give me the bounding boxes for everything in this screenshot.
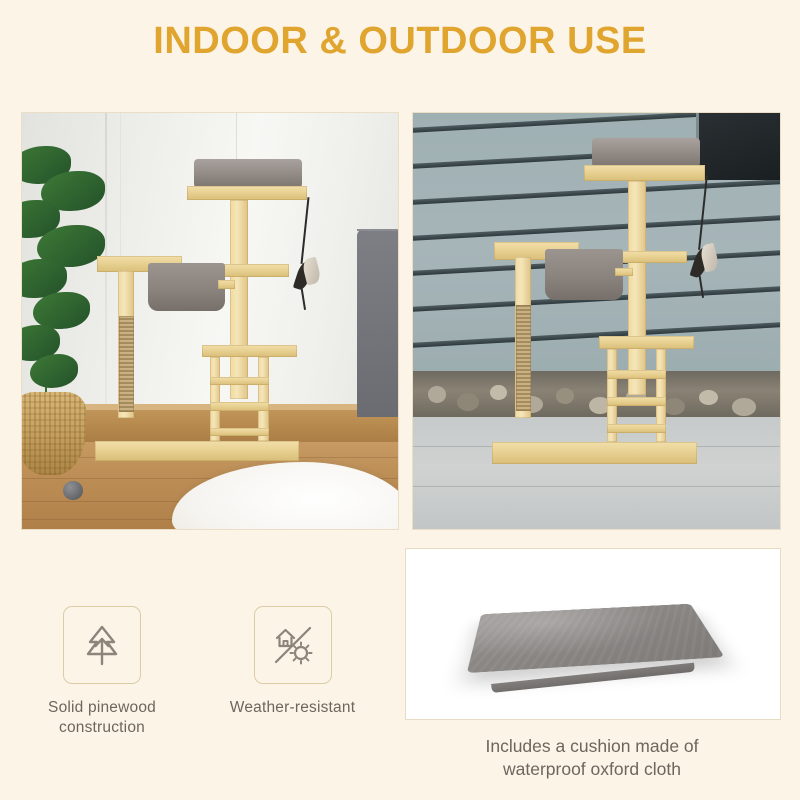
cushion-product-panel[interactable] xyxy=(405,548,781,720)
fabric-hammock xyxy=(545,249,622,300)
fabric-hammock xyxy=(148,263,225,311)
top-cushion xyxy=(592,138,700,167)
product-feature-page: INDOOR & OUTDOOR USE xyxy=(0,0,800,800)
feature-pinewood-label: Solid pinewood construction xyxy=(22,698,182,738)
outdoor-scene xyxy=(413,113,780,529)
indoor-photo[interactable] xyxy=(21,112,399,530)
toy-ball xyxy=(63,481,83,500)
outdoor-photo[interactable] xyxy=(412,112,781,530)
sisal-scratching-post xyxy=(119,316,134,412)
top-perch xyxy=(187,186,307,200)
weather-icon-box xyxy=(254,606,332,684)
cat-tree xyxy=(90,159,346,479)
cushion-image xyxy=(477,581,709,686)
base-platform xyxy=(95,441,300,462)
lower-step xyxy=(202,345,297,358)
page-title: INDOOR & OUTDOOR USE xyxy=(0,20,800,63)
feature-pinewood: Solid pinewood construction xyxy=(22,606,182,738)
grey-sofa xyxy=(357,229,398,416)
top-perch xyxy=(584,165,705,180)
pine-tree-arrow-icon xyxy=(80,622,124,668)
main-post xyxy=(230,200,248,399)
sisal-scratching-post xyxy=(516,305,531,411)
cushion-caption: Includes a cushion made of waterproof ox… xyxy=(400,735,784,781)
pinewood-icon-box xyxy=(63,606,141,684)
feature-weather-label: Weather-resistant xyxy=(205,698,380,718)
lower-step xyxy=(599,336,694,350)
top-cushion xyxy=(194,159,301,188)
feature-weather: Weather-resistant xyxy=(205,606,380,718)
cat-tree xyxy=(486,138,743,479)
main-post xyxy=(628,181,646,396)
house-sun-slash-icon xyxy=(270,622,316,668)
indoor-scene xyxy=(22,113,398,529)
base-platform xyxy=(492,442,698,464)
sofa-seam xyxy=(357,229,398,231)
hammock-rod xyxy=(615,268,633,277)
hammock-rod xyxy=(218,280,236,288)
